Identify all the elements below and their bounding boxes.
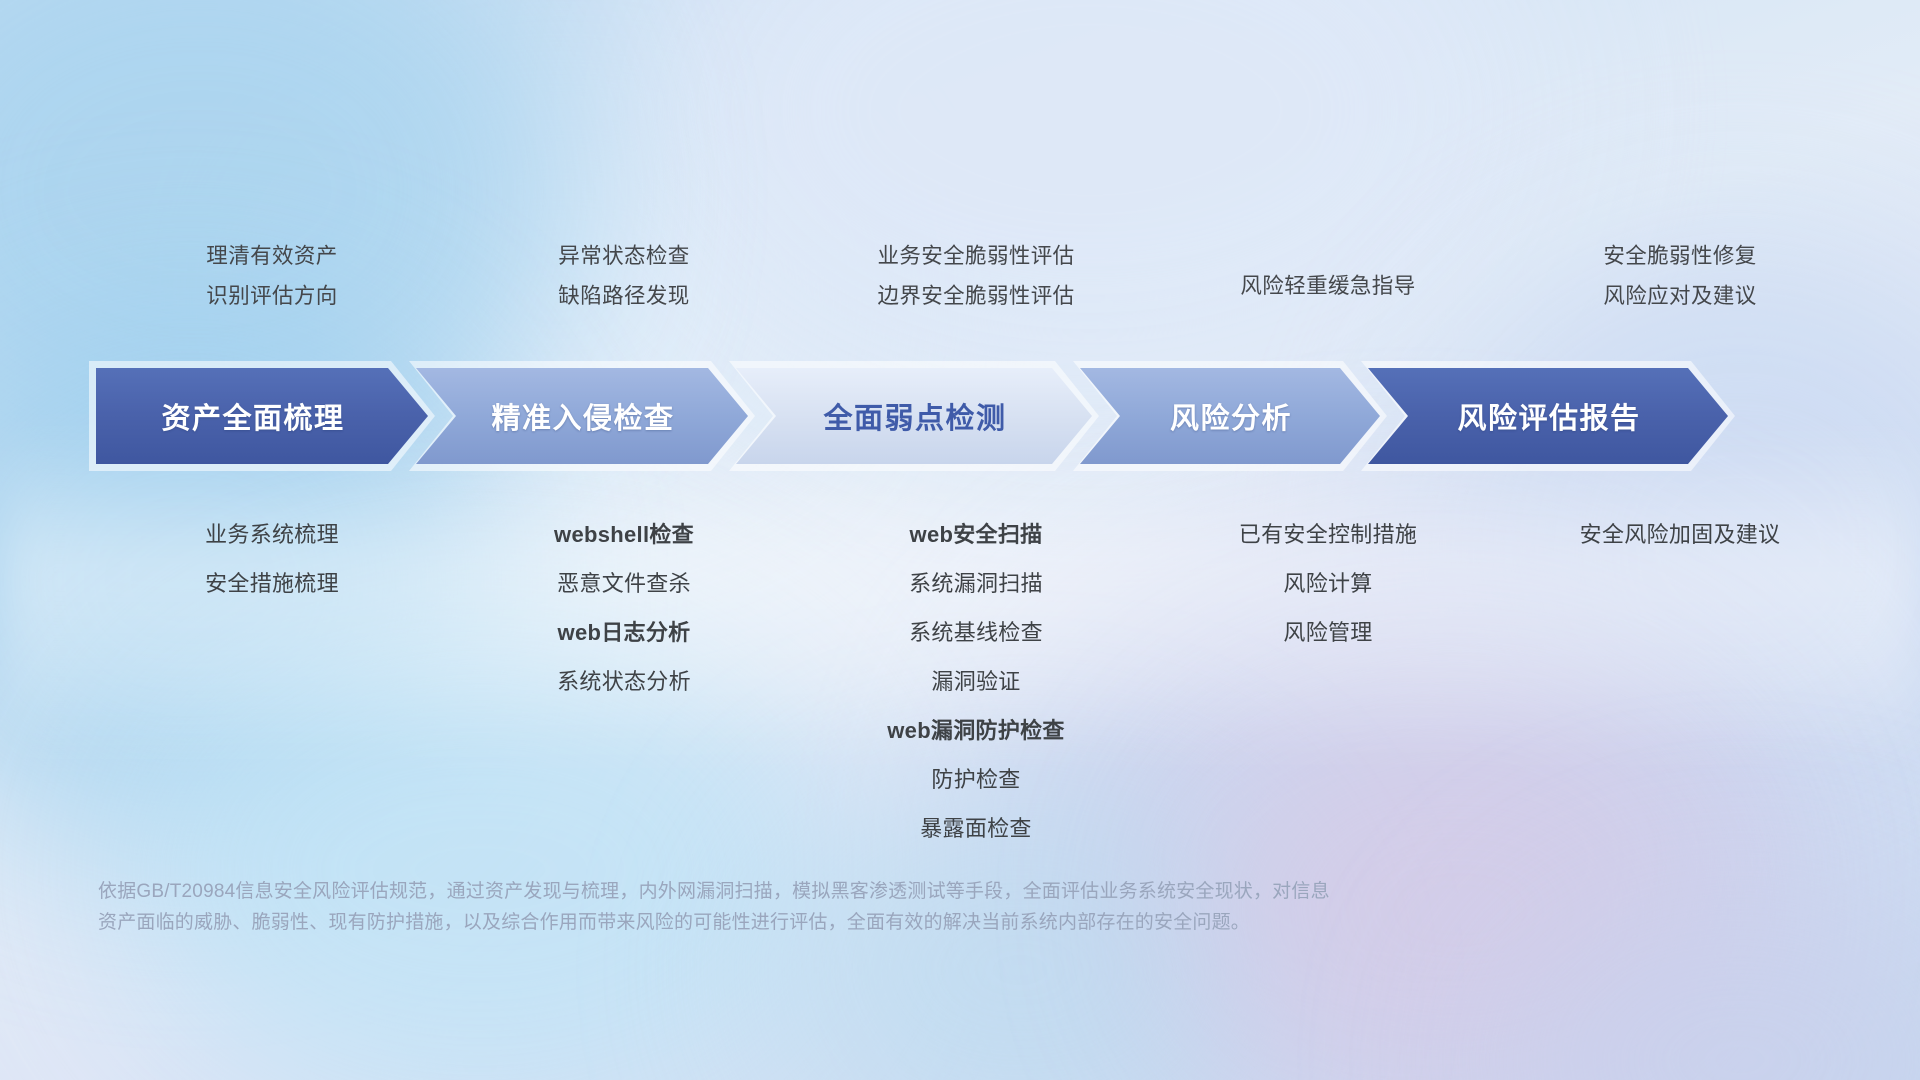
bottom-notes-intrusion-check: webshell检查恶意文件查杀web日志分析系统状态分析 [448, 510, 800, 706]
process-chevron-band: 资产全面梳理 精准入侵检查 全面弱点检测 风险分析 风险评估报告 [96, 368, 1856, 464]
footer-description: 依据GB/T20984信息安全风险评估规范，通过资产发现与梳理，内外网漏洞扫描，… [98, 876, 1658, 938]
bottom-note: 安全措施梳理 [96, 559, 448, 608]
bottom-note: web安全扫描 [800, 510, 1152, 559]
bottom-note: 系统漏洞扫描 [800, 559, 1152, 608]
bottom-note: 安全风险加固及建议 [1504, 510, 1856, 559]
chevron-stage-weakness-detection[interactable]: 全面弱点检测 [736, 368, 1092, 464]
chevron-stage-risk-report[interactable]: 风险评估报告 [1368, 368, 1728, 464]
footer-line-2: 资产面临的威胁、脆弱性、现有防护措施，以及综合作用而带来风险的可能性进行评估，全… [98, 907, 1658, 938]
bottom-note: 系统状态分析 [448, 657, 800, 706]
bottom-note: 防护检查 [800, 755, 1152, 804]
bottom-notes-risk-report: 安全风险加固及建议 [1504, 510, 1856, 559]
top-note: 业务安全脆弱性评估 [800, 236, 1152, 276]
bottom-note: webshell检查 [448, 510, 800, 559]
top-notes-risk-report: 安全脆弱性修复 风险应对及建议 [1504, 236, 1856, 316]
chevron-stage-risk-analysis[interactable]: 风险分析 [1080, 368, 1380, 464]
bottom-note: web日志分析 [448, 608, 800, 657]
top-note: 安全脆弱性修复 [1504, 236, 1856, 276]
top-notes-row: 理清有效资产 识别评估方向 异常状态检查 缺陷路径发现 业务安全脆弱性评估 边界… [96, 236, 1856, 316]
bottom-note: web漏洞防护检查 [800, 706, 1152, 755]
footer-line-1: 依据GB/T20984信息安全风险评估规范，通过资产发现与梳理，内外网漏洞扫描，… [98, 881, 1330, 902]
bottom-note: 风险计算 [1152, 559, 1504, 608]
top-note: 缺陷路径发现 [448, 276, 800, 316]
chevron-label: 风险分析 [1170, 395, 1292, 437]
bottom-note: 系统基线检查 [800, 608, 1152, 657]
chevron-label: 精准入侵检查 [491, 395, 674, 437]
chevron-label: 资产全面梳理 [161, 395, 344, 437]
top-notes-weakness-detection: 业务安全脆弱性评估 边界安全脆弱性评估 [800, 236, 1152, 316]
top-note: 风险应对及建议 [1504, 276, 1856, 316]
bottom-note: 已有安全控制措施 [1152, 510, 1504, 559]
chevron-stage-intrusion-check[interactable]: 精准入侵检查 [416, 368, 748, 464]
top-note: 边界安全脆弱性评估 [800, 276, 1152, 316]
bottom-note: 风险管理 [1152, 608, 1504, 657]
bottom-note: 漏洞验证 [800, 657, 1152, 706]
chevron-label: 全面弱点检测 [823, 395, 1006, 437]
top-notes-asset-inventory: 理清有效资产 识别评估方向 [96, 236, 448, 316]
bottom-note: 恶意文件查杀 [448, 559, 800, 608]
chevron-label: 风险评估报告 [1457, 395, 1640, 437]
bottom-notes-row: 业务系统梳理安全措施梳理 webshell检查恶意文件查杀web日志分析系统状态… [96, 510, 1856, 853]
chevron-stage-asset-inventory[interactable]: 资产全面梳理 [96, 368, 428, 464]
top-note: 理清有效资产 [96, 236, 448, 276]
top-note: 异常状态检查 [448, 236, 800, 276]
bottom-notes-risk-analysis: 已有安全控制措施风险计算风险管理 [1152, 510, 1504, 657]
top-note: 风险轻重缓急指导 [1152, 266, 1504, 306]
top-note: 识别评估方向 [96, 276, 448, 316]
risk-assessment-process-slide: 理清有效资产 识别评估方向 异常状态检查 缺陷路径发现 业务安全脆弱性评估 边界… [0, 0, 1920, 1080]
bottom-note: 业务系统梳理 [96, 510, 448, 559]
top-notes-risk-analysis: 风险轻重缓急指导 [1152, 236, 1504, 316]
bottom-notes-weakness-detection: web安全扫描系统漏洞扫描系统基线检查漏洞验证web漏洞防护检查防护检查暴露面检… [800, 510, 1152, 853]
top-notes-intrusion-check: 异常状态检查 缺陷路径发现 [448, 236, 800, 316]
bottom-notes-asset-inventory: 业务系统梳理安全措施梳理 [96, 510, 448, 608]
bottom-note: 暴露面检查 [800, 804, 1152, 853]
